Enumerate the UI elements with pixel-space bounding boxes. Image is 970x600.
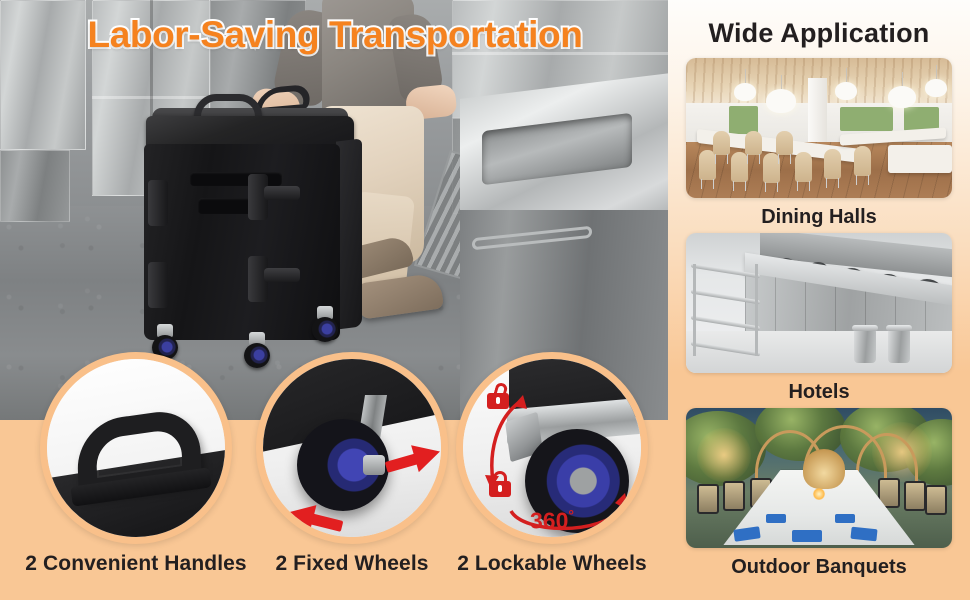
feature-callout-handles: 2 Convenient Handles	[40, 352, 232, 544]
blue-napkin	[835, 514, 855, 523]
feature-callout-fixed-wheels: 2 Fixed Wheels	[256, 352, 448, 544]
carrier-body	[144, 144, 340, 340]
carrier-latch-bar	[264, 268, 300, 282]
product-feature-banner: Labor-Saving Transportation 2 Convenient…	[0, 0, 970, 600]
serving-counter	[888, 145, 952, 173]
banquet-chair	[697, 484, 719, 514]
hotel-kitchen-image	[686, 233, 952, 373]
wheel-axle-hub	[363, 455, 385, 475]
blue-napkin	[766, 514, 786, 523]
candle-light	[813, 488, 825, 500]
application-caption-hotels: Hotels	[686, 381, 952, 404]
application-caption-outdoor-banquets: Outdoor Banquets	[686, 556, 952, 579]
stock-pot	[888, 329, 910, 363]
feature-caption-handles: 2 Convenient Handles	[25, 552, 246, 576]
banquet-chair	[904, 481, 926, 511]
food-pan-carrier	[140, 94, 360, 354]
outdoor-banquet-image	[686, 408, 952, 548]
blue-napkin	[792, 530, 822, 542]
handle-closeup-image	[40, 352, 232, 544]
feature-callout-lockable-wheels: 360° 2 Lockable Wheels	[456, 352, 648, 544]
page-title: Labor-Saving Transportation	[88, 14, 583, 55]
application-card-outdoor-banquets: Outdoor Banquets	[686, 408, 952, 579]
left-panel: Labor-Saving Transportation 2 Convenient…	[0, 0, 670, 600]
carrier-caster	[312, 306, 338, 340]
dining-hall-image	[686, 58, 952, 198]
fixed-wheel-closeup-image	[256, 352, 448, 544]
stock-pot	[854, 329, 876, 363]
feature-caption-lockable-wheels: 2 Lockable Wheels	[457, 552, 647, 576]
garden-light-glow	[697, 428, 751, 482]
application-card-hotels: Hotels	[686, 233, 952, 404]
table-centerpiece	[803, 449, 845, 489]
rotation-degree-label: 360°	[530, 507, 574, 535]
storage-rack	[691, 264, 760, 356]
carrier-latch	[148, 180, 168, 226]
wide-application-title: Wide Application	[668, 18, 970, 49]
blue-napkin	[850, 526, 877, 541]
banquet-chair	[925, 485, 947, 515]
ceiling-column	[808, 78, 827, 145]
caster-wheel	[312, 317, 338, 342]
right-panel: Wide Application	[668, 0, 970, 600]
feature-caption-fixed-wheels: 2 Fixed Wheels	[275, 552, 428, 576]
application-card-dining-halls: Dining Halls	[686, 58, 952, 229]
carrier-latch	[148, 262, 168, 308]
application-caption-dining-halls: Dining Halls	[686, 206, 952, 229]
headline-wrapper: Labor-Saving Transportation	[0, 14, 670, 56]
green-accent-panel	[729, 106, 758, 134]
carrier-label-recess	[190, 172, 282, 186]
banquet-chair	[723, 481, 745, 511]
lockable-wheel-closeup-image: 360°	[456, 352, 648, 544]
steel-cabinet-left-base	[0, 150, 70, 222]
carrier-latch-bar	[264, 186, 300, 200]
green-accent-panel	[840, 107, 893, 131]
